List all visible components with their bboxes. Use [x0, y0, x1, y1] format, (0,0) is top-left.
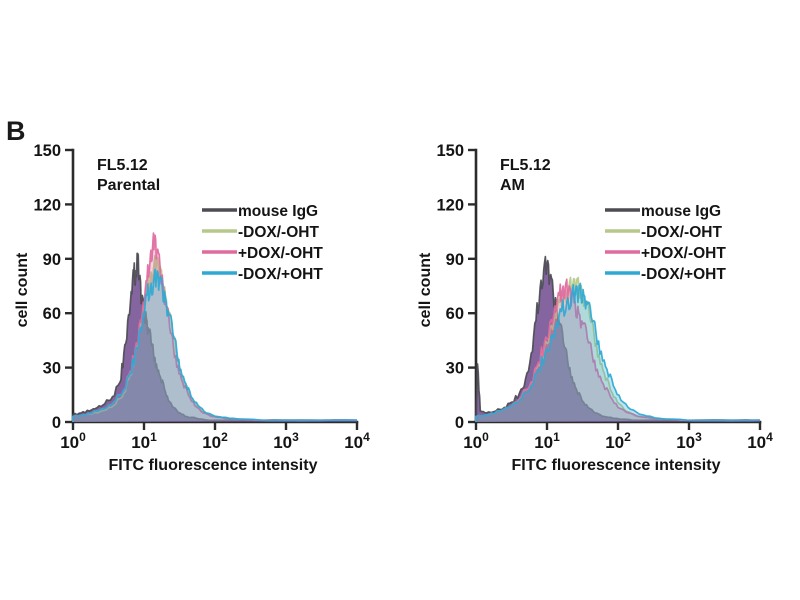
plot-title-line2: AM: [500, 177, 525, 194]
y-tick-label-0: 0: [52, 414, 61, 432]
x-tick-base-3: 10: [676, 433, 695, 452]
svg-text:100: 100: [60, 430, 86, 452]
legend-label-3: -DOX/+OHT: [238, 266, 323, 283]
y-tick-label-30: 30: [446, 360, 464, 378]
x-tick-exp-0: 0: [482, 430, 489, 444]
x-tick-exp-0: 0: [79, 430, 86, 444]
x-tick-base-0: 10: [463, 433, 482, 452]
x-tick-exp-3: 3: [292, 430, 299, 444]
y-tick-label-60: 60: [43, 305, 61, 323]
x-axis-title: FITC fluorescence intensity: [512, 457, 721, 474]
x-tick-base-4: 10: [747, 433, 766, 452]
y-tick-label-90: 90: [43, 251, 61, 269]
svg-text:104: 104: [747, 430, 773, 452]
svg-text:102: 102: [202, 430, 228, 452]
legend: mouse IgG -DOX/-OHT +DOX/-OHT -DOX/+OHT: [605, 203, 726, 283]
y-tick-label-150: 150: [33, 142, 61, 160]
histogram-line-3: [73, 269, 357, 422]
x-tick-base-4: 10: [344, 433, 363, 452]
x-tick-exp-1: 1: [553, 430, 560, 444]
legend-label-0: mouse IgG: [641, 203, 721, 220]
plot-title-line2: Parental: [97, 177, 160, 194]
x-tick-labels: 100 101 102 103 104: [60, 430, 370, 452]
panel-right-svg: 0 30 60 90 120 150 100 101 102 103 104 F…: [408, 130, 798, 475]
legend-label-1: -DOX/-OHT: [641, 224, 722, 241]
x-tick-exp-1: 1: [150, 430, 157, 444]
figure-root: B 0 30 60 90 120 150: [0, 0, 800, 600]
y-tick-label-150: 150: [436, 142, 464, 160]
legend-label-3: -DOX/+OHT: [641, 266, 726, 283]
legend: mouse IgG -DOX/-OHT +DOX/-OHT -DOX/+OHT: [202, 203, 323, 283]
y-tick-label-120: 120: [436, 196, 464, 214]
y-axis-title: cell count: [417, 252, 434, 327]
x-tick-exp-3: 3: [695, 430, 702, 444]
x-tick-base-0: 10: [60, 433, 79, 452]
legend-label-2: +DOX/-OHT: [641, 245, 726, 262]
x-tick-exp-2: 2: [221, 430, 228, 444]
legend-label-1: -DOX/-OHT: [238, 224, 319, 241]
y-tick-label-60: 60: [446, 305, 464, 323]
x-tick-base-1: 10: [131, 433, 150, 452]
histogram-line-3: [476, 283, 760, 422]
x-tick-exp-4: 4: [363, 430, 370, 444]
x-tick-base-1: 10: [534, 433, 553, 452]
svg-text:100: 100: [463, 430, 489, 452]
legend-label-0: mouse IgG: [238, 203, 318, 220]
y-tick-label-0: 0: [455, 414, 464, 432]
x-tick-base-3: 10: [273, 433, 292, 452]
x-tick-base-2: 10: [202, 433, 221, 452]
panel-fl512-parental: 0 30 60 90 120 150 100 101 102 103 104: [5, 130, 395, 475]
y-tick-label-90: 90: [446, 251, 464, 269]
y-tick-label-30: 30: [43, 360, 61, 378]
panel-fl512-am: 0 30 60 90 120 150 100 101 102 103 104 F…: [408, 130, 798, 475]
plot-title-line1: FL5.12: [500, 157, 551, 174]
x-tick-base-2: 10: [605, 433, 624, 452]
svg-text:101: 101: [131, 430, 157, 452]
svg-text:103: 103: [676, 430, 702, 452]
x-axis-title: FITC fluorescence intensity: [109, 457, 318, 474]
svg-text:101: 101: [534, 430, 560, 452]
plot-title-line1: FL5.12: [97, 157, 148, 174]
panel-left-svg: 0 30 60 90 120 150 100 101 102 103 104: [5, 130, 395, 475]
svg-text:104: 104: [344, 430, 370, 452]
y-tick-label-120: 120: [33, 196, 61, 214]
x-tick-exp-4: 4: [766, 430, 773, 444]
legend-label-2: +DOX/-OHT: [238, 245, 323, 262]
svg-text:102: 102: [605, 430, 631, 452]
x-tick-labels: 100 101 102 103 104: [463, 430, 773, 452]
svg-text:103: 103: [273, 430, 299, 452]
y-axis-title: cell count: [14, 252, 31, 327]
x-tick-exp-2: 2: [624, 430, 631, 444]
